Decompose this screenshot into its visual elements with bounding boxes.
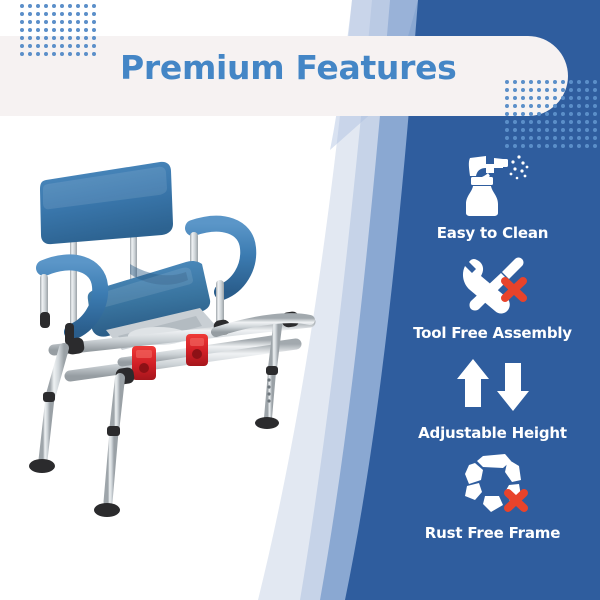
clamp [132,346,156,380]
dot-grid-left-icon [20,0,100,60]
up-down-arrows-icon [450,350,536,420]
product-image-shower-transfer-bench [10,140,330,540]
feature-easy-to-clean: Easy to Clean [385,150,600,242]
feature-label: Adjustable Height [418,424,567,442]
feature-label: Rust Free Frame [425,524,560,542]
feature-label: Easy to Clean [437,224,549,242]
promo-banner-page: Premium Features [0,0,600,600]
dot-grid-right-icon [505,80,597,152]
feature-tool-free-assembly: Tool Free Assembly [385,250,600,342]
spray-bottle-icon [450,150,536,220]
rusted-metal-icon [450,450,536,520]
wrench-screwdriver-cross-icon [450,250,536,320]
feature-adjustable-height: Adjustable Height [385,350,600,442]
clamp [186,334,208,366]
feature-rust-free-frame: Rust Free Frame [385,450,600,542]
features-list: Easy to Clean [385,150,600,550]
feature-label: Tool Free Assembly [413,324,572,342]
page-title: Premium Features [120,48,457,87]
